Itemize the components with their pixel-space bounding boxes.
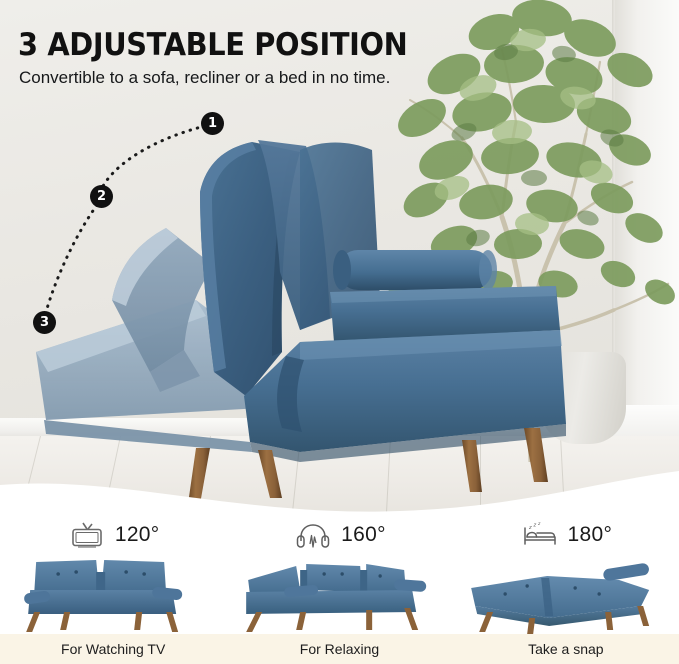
tv-icon (67, 520, 107, 550)
mode-panel-bed[interactable]: z z z 180° (453, 512, 679, 634)
position-badge-2[interactable]: 2 (90, 185, 113, 208)
mode-panel-watching-tv[interactable]: 120° (0, 512, 226, 634)
svg-text:z: z (528, 525, 532, 531)
mode-angle: 180° (568, 523, 613, 547)
caption-relaxing: For Relaxing (226, 634, 452, 664)
mode-angle: 160° (341, 523, 386, 547)
mode-header: 120° (0, 520, 226, 550)
mode-angle: 120° (115, 523, 160, 547)
callout-overlay (0, 0, 679, 512)
sofa-thumb-sofa-mode (0, 548, 226, 634)
mode-header: 160° (226, 520, 452, 550)
mode-header: z z z 180° (453, 520, 679, 550)
position-badge-3[interactable]: 3 (33, 311, 56, 334)
hero-scene: 3 ADJUSTABLE POSITION Convertible to a s… (0, 0, 679, 512)
wave-divider (0, 455, 679, 512)
headphones-icon (293, 520, 333, 550)
mode-panels: 120° (0, 512, 679, 634)
svg-text:z: z (532, 523, 536, 529)
sofa-thumb-bed-mode (453, 548, 679, 634)
infographic-root: 3 ADJUSTABLE POSITION Convertible to a s… (0, 0, 679, 664)
svg-text:z: z (537, 522, 541, 527)
sofa-thumb-recliner-mode (226, 548, 452, 634)
caption-take-a-snap: Take a snap (453, 634, 679, 664)
caption-bar: For Watching TV For Relaxing Take a snap (0, 634, 679, 664)
caption-watching-tv: For Watching TV (0, 634, 226, 664)
position-badge-1[interactable]: 1 (201, 112, 224, 135)
bed-sleep-icon: z z z (520, 520, 560, 550)
mode-panel-relaxing[interactable]: 160° (226, 512, 452, 634)
